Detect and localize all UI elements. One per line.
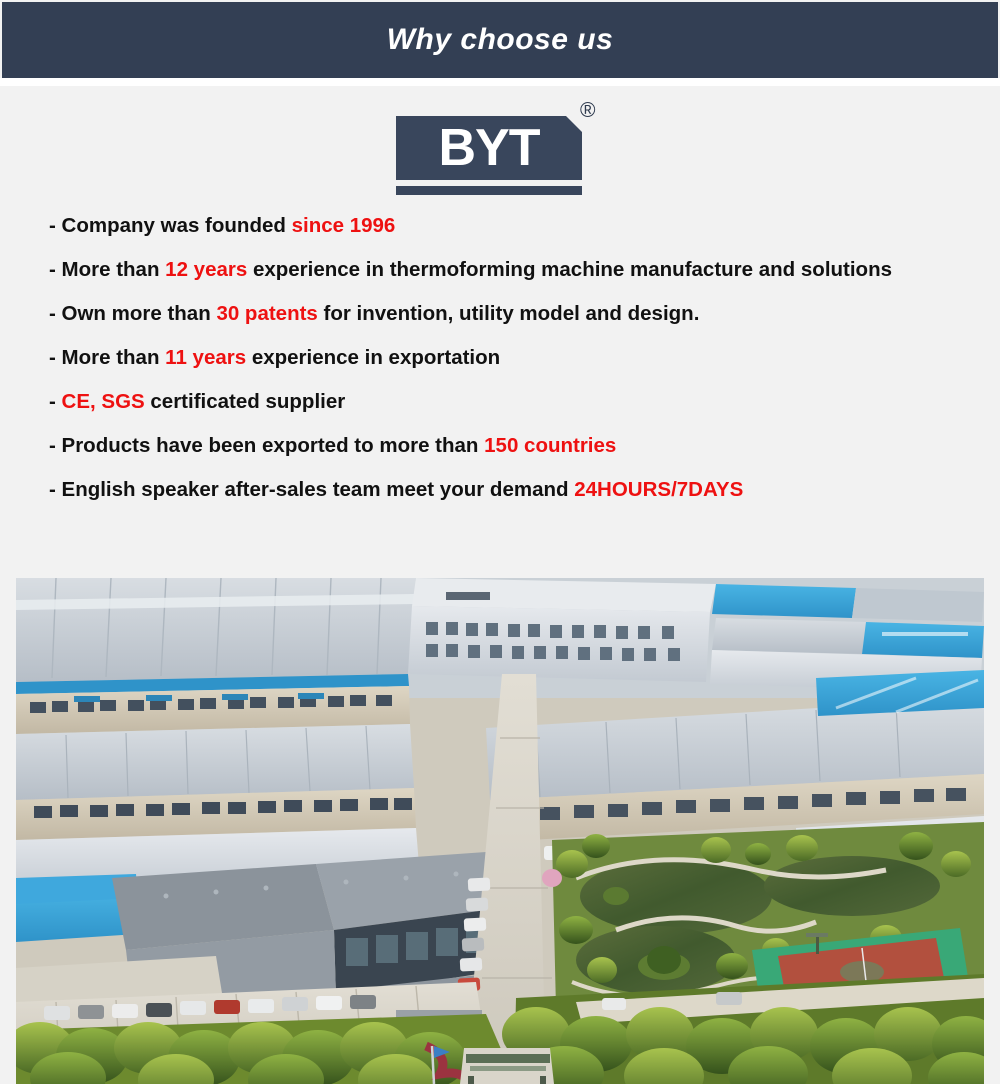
page-title: Why choose us xyxy=(387,23,614,57)
section-header-banner: Why choose us xyxy=(2,2,998,78)
factory-aerial-illustration xyxy=(16,578,984,1084)
benefit-founded-segment-0: - Company was founded xyxy=(49,214,292,237)
benefit-experience-exportation-segment-2: experience in exportation xyxy=(246,346,500,369)
benefit-line-experience-exportation: - More than 11 years experience in expor… xyxy=(49,336,979,380)
benefit-certification-segment-0: - xyxy=(49,390,62,413)
benefit-experience-manufacture-segment-1: 12 years xyxy=(165,258,247,281)
logo-underline-bar xyxy=(396,186,582,195)
benefit-patents-segment-2: for invention, utility model and design. xyxy=(318,302,700,325)
benefit-after-sales-segment-0: - English speaker after-sales team meet … xyxy=(49,478,574,501)
benefit-line-export-countries: - Products have been exported to more th… xyxy=(49,424,979,468)
benefit-certification-segment-1: CE, SGS xyxy=(62,390,145,413)
benefit-experience-manufacture-segment-0: - More than xyxy=(49,258,165,281)
header-divider xyxy=(0,78,1000,86)
factory-aerial-photo xyxy=(16,578,984,1084)
benefit-line-patents: - Own more than 30 patents for invention… xyxy=(49,292,979,336)
benefit-export-countries-segment-1: 150 countries xyxy=(484,434,616,457)
benefit-certification-segment-2: certificated supplier xyxy=(145,390,346,413)
content-panel: BYT ® - Company was founded since 1996- … xyxy=(0,86,1000,564)
benefit-export-countries-segment-0: - Products have been exported to more th… xyxy=(49,434,484,457)
benefit-line-experience-manufacture: - More than 12 years experience in therm… xyxy=(49,248,979,292)
benefit-patents-segment-0: - Own more than xyxy=(49,302,216,325)
logo-wordmark: BYT xyxy=(396,116,582,180)
why-choose-us-page: Why choose us BYT ® - Company was founde… xyxy=(0,0,1000,1084)
benefit-patents-segment-1: 30 patents xyxy=(216,302,317,325)
registered-trademark-icon: ® xyxy=(580,100,595,121)
benefits-list: - Company was founded since 1996- More t… xyxy=(49,204,979,512)
benefit-line-certification: - CE, SGS certificated supplier xyxy=(49,380,979,424)
benefit-experience-manufacture-segment-2: experience in thermoforming machine manu… xyxy=(247,258,892,281)
benefit-line-founded: - Company was founded since 1996 xyxy=(49,204,979,248)
benefit-experience-exportation-segment-1: 11 years xyxy=(165,346,246,369)
benefit-founded-segment-1: since 1996 xyxy=(292,214,396,237)
company-logo: BYT ® xyxy=(396,100,606,200)
benefit-after-sales-segment-1: 24HOURS/7DAYS xyxy=(574,478,743,501)
benefit-experience-exportation-segment-0: - More than xyxy=(49,346,165,369)
benefit-line-after-sales: - English speaker after-sales team meet … xyxy=(49,468,979,512)
